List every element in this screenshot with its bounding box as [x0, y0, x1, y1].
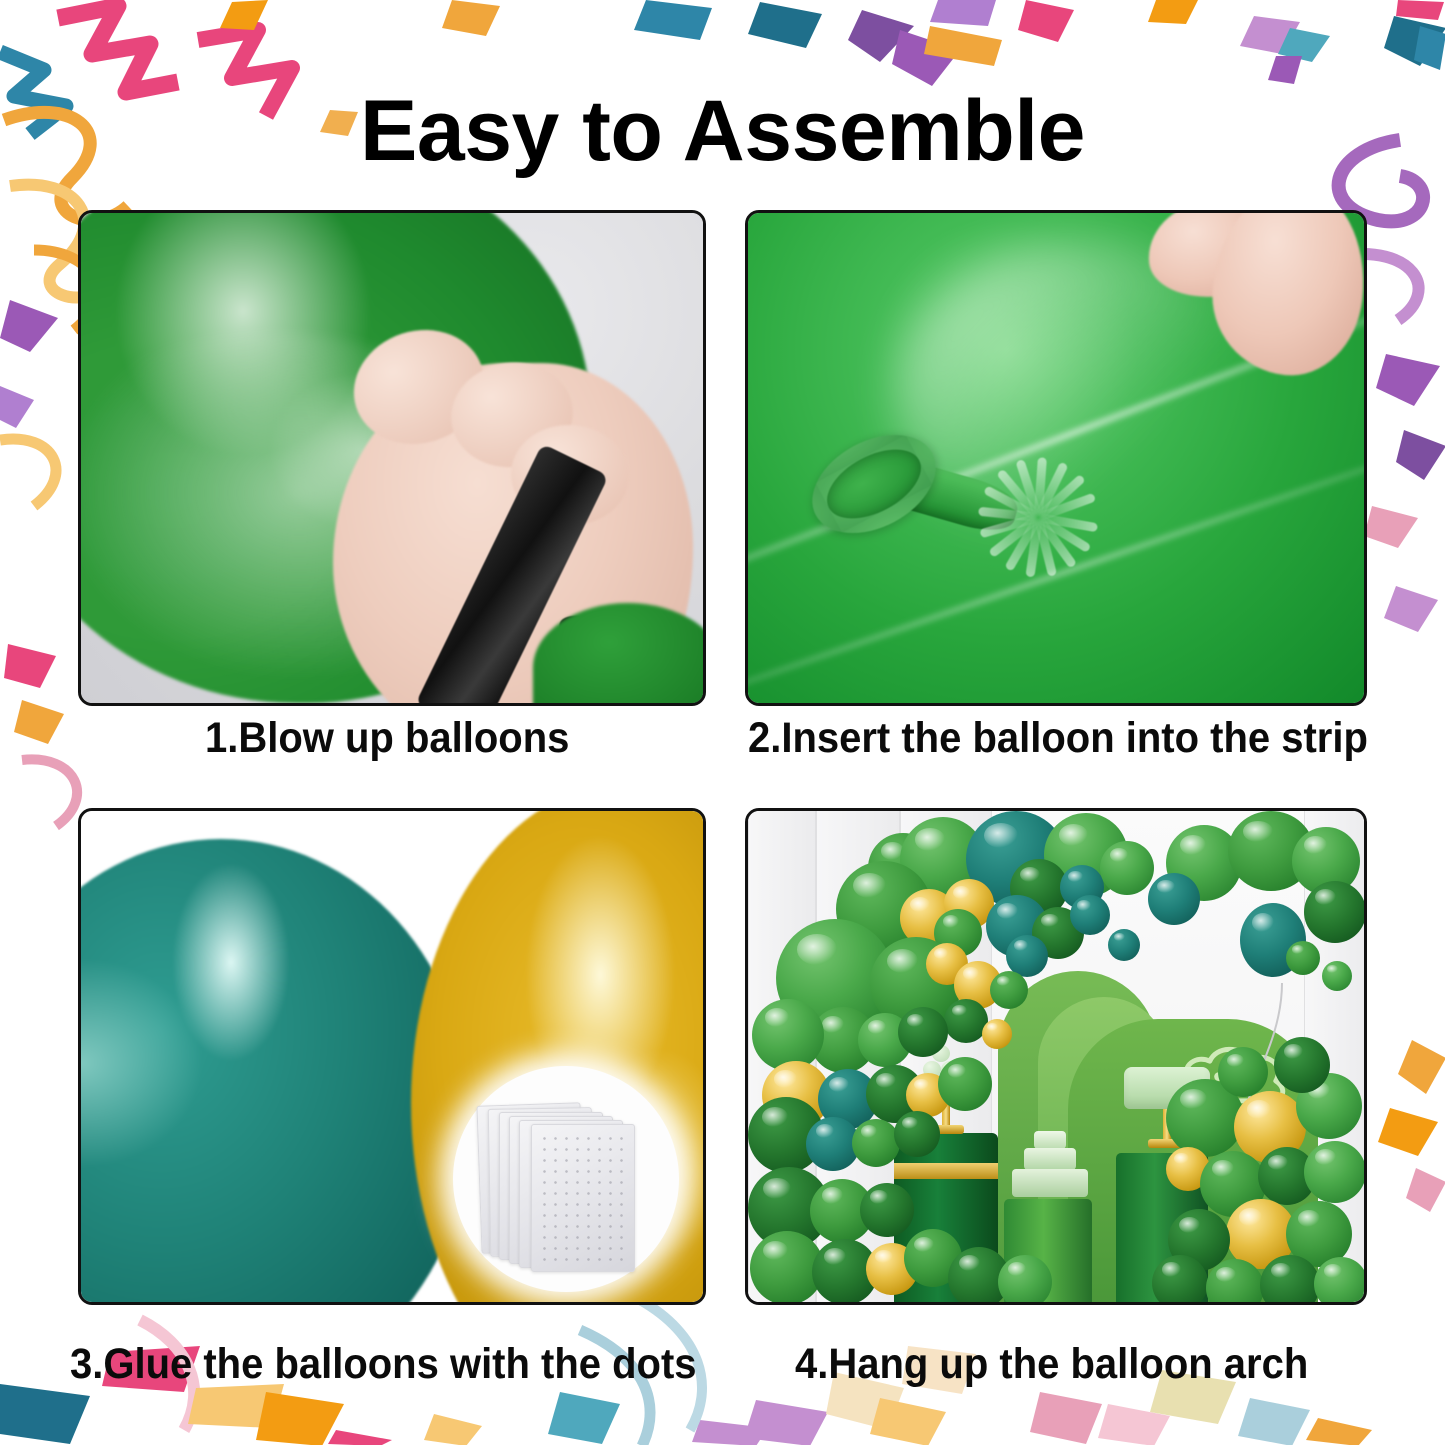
tiered-cake	[1010, 1131, 1090, 1203]
garland-balloon	[982, 1019, 1012, 1049]
step-3-photo	[81, 811, 703, 1302]
step-4-image-panel	[745, 808, 1367, 1305]
garland-balloon	[990, 971, 1028, 1009]
garland-balloon	[1108, 929, 1140, 961]
balloon-knot-pleats	[967, 447, 1111, 579]
garland-balloon	[752, 999, 824, 1071]
garland-balloon	[1304, 881, 1366, 943]
garland-balloon	[894, 1111, 940, 1157]
garland-balloon	[898, 1007, 948, 1057]
step-4-photo	[748, 811, 1364, 1302]
garland-balloon	[1314, 1257, 1367, 1305]
step-3-caption: 3.Glue the balloons with the dots	[70, 1340, 697, 1389]
garland-balloon	[860, 1183, 914, 1237]
garland-balloon	[1070, 895, 1110, 935]
garland-balloon	[1100, 841, 1154, 895]
glue-dots-inset	[453, 1066, 679, 1292]
page-title: Easy to Assemble	[0, 86, 1445, 176]
step-2-photo	[748, 213, 1364, 703]
step-1-photo	[81, 213, 703, 703]
plinth-gold-band	[894, 1163, 998, 1179]
garland-balloon	[1274, 1037, 1330, 1093]
step-1-caption: 1.Blow up balloons	[205, 714, 569, 763]
step-1-image-panel	[78, 210, 706, 706]
garland-balloon	[1304, 1141, 1366, 1203]
step-4-caption: 4.Hang up the balloon arch	[795, 1340, 1308, 1389]
garland-balloon	[938, 1057, 992, 1111]
garland-balloon	[1286, 941, 1320, 975]
step-2-image-panel	[745, 210, 1367, 706]
garland-balloon	[852, 1119, 900, 1167]
garland-balloon	[998, 1255, 1052, 1305]
step-3-image-panel	[78, 808, 706, 1305]
step-2-caption: 2.Insert the balloon into the strip	[748, 714, 1368, 763]
product-instruction-image: Easy to Assemble 1.Blow up balloons	[0, 0, 1445, 1445]
garland-balloon	[1218, 1047, 1268, 1097]
garland-balloon	[1152, 1255, 1208, 1305]
garland-balloon	[1148, 873, 1200, 925]
garland-balloon	[1322, 961, 1352, 991]
